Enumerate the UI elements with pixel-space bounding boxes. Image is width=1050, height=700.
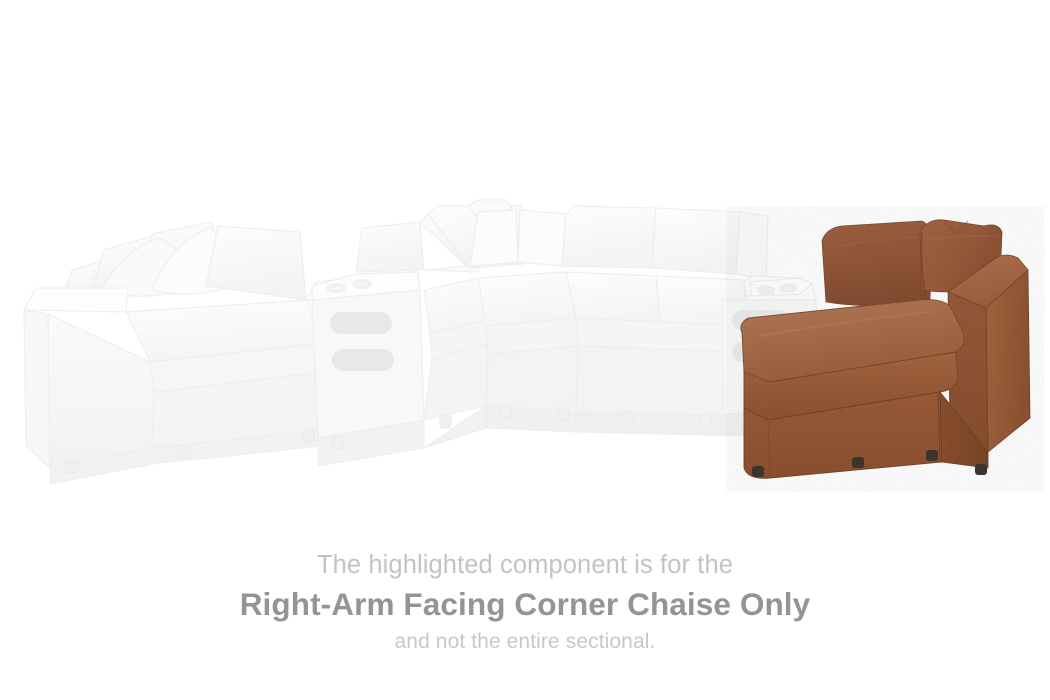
chaise-back-cushion-left [822, 221, 932, 306]
chaise-foot-front-mid [852, 457, 864, 468]
ghost-sectional-group [24, 200, 818, 484]
module-left-arm-facing-loveseat [24, 222, 330, 484]
product-highlight-screenshot: The highlighted component is for the Rig… [0, 0, 1050, 700]
module-right-arm-facing-corner-chaise-highlighted [741, 220, 1030, 479]
chaise-foot-front-left [752, 466, 764, 477]
caption-line-disclaimer: and not the entire sectional. [0, 627, 1050, 657]
chaise-foot-rear-right [975, 464, 987, 475]
chaise-foot-front-right [926, 450, 938, 461]
sectional-sofa-illustration [0, 0, 1050, 520]
caption-line-component-name: Right-Arm Facing Corner Chaise Only [0, 583, 1050, 625]
caption-block: The highlighted component is for the Rig… [0, 548, 1050, 657]
module-console-left [306, 272, 424, 466]
caption-line-intro: The highlighted component is for the [0, 548, 1050, 582]
